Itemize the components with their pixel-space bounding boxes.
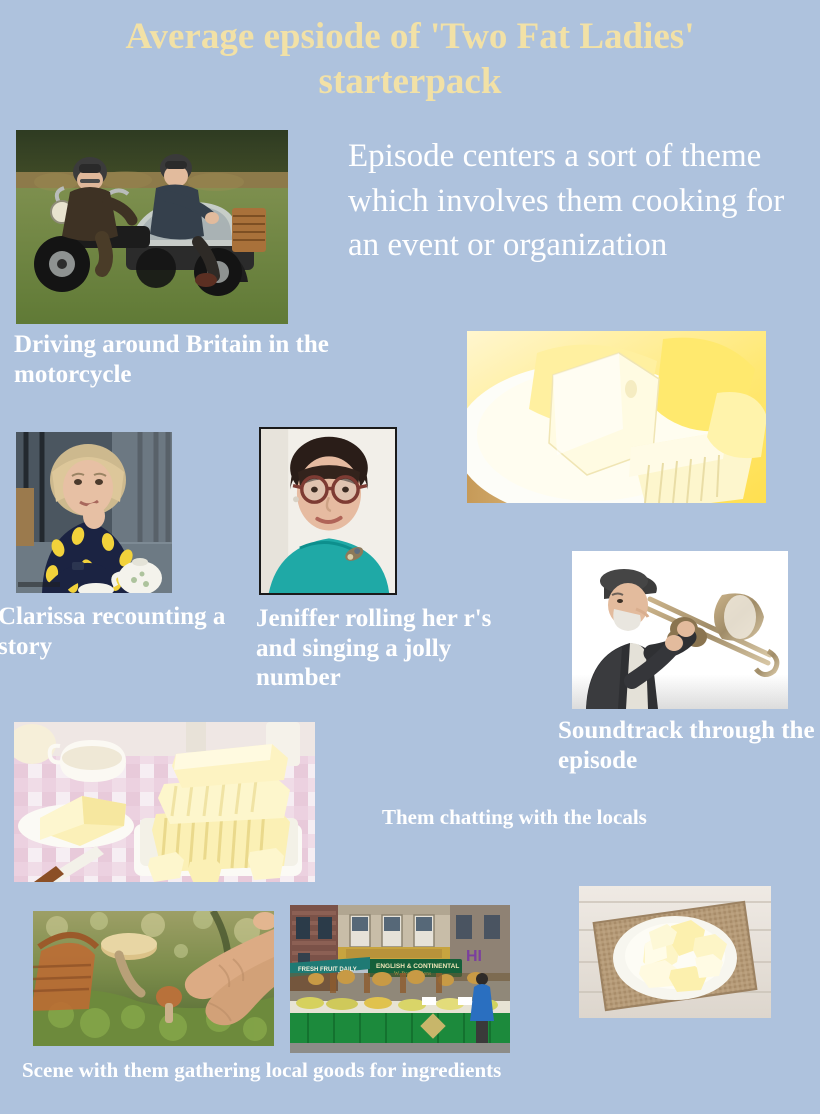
jeniffer-photo bbox=[259, 427, 397, 595]
motorcycle-caption-text: Driving around Britain in the motorcycle bbox=[14, 331, 329, 388]
butter-plate-photo bbox=[579, 886, 771, 1018]
clarissa-caption-text: Clarissa recounting a story bbox=[0, 603, 225, 660]
butter-bowl-photo-graphic bbox=[467, 331, 766, 503]
motorcycle-caption: Driving around Britain in the motorcycle bbox=[14, 330, 344, 389]
svg-text:ENGLISH & CONTINENTAL: ENGLISH & CONTINENTAL bbox=[376, 963, 459, 970]
foraging-photo bbox=[33, 911, 274, 1046]
trombone-photo-graphic bbox=[572, 551, 788, 709]
gathering-caption: Scene with them gathering local goods fo… bbox=[22, 1058, 682, 1083]
motorcycle-photo-graphic bbox=[16, 130, 288, 324]
page-title-line-2: starterpack bbox=[0, 59, 820, 104]
locals-caption: Them chatting with the locals bbox=[382, 805, 722, 830]
butter-blocks-photo-graphic bbox=[14, 722, 315, 882]
butter-bowl-photo bbox=[467, 331, 766, 503]
butter-blocks-photo bbox=[14, 722, 315, 882]
page-title: Average epsiode of 'Two Fat Ladies' star… bbox=[0, 14, 820, 104]
gathering-caption-text: Scene with them gathering local goods fo… bbox=[22, 1058, 501, 1082]
foraging-photo-graphic bbox=[33, 911, 274, 1046]
theme-caption-text: Episode centers a sort of theme which in… bbox=[348, 138, 784, 263]
trombone-photo bbox=[572, 551, 788, 709]
market-photo: HI ENGLISH & CONTINENTAL W. Boyd & Sons … bbox=[290, 905, 510, 1053]
clarissa-photo-graphic bbox=[16, 432, 172, 593]
jeniffer-photo-graphic bbox=[261, 429, 395, 593]
jeniffer-caption-text: Jeniffer rolling her r's and singing a j… bbox=[256, 605, 491, 691]
butter-plate-photo-graphic bbox=[579, 886, 771, 1018]
page-title-line-1: Average epsiode of 'Two Fat Ladies' bbox=[0, 14, 820, 59]
trombone-caption-text: Soundtrack through the episode bbox=[558, 717, 815, 774]
market-photo-graphic: HI ENGLISH & CONTINENTAL W. Boyd & Sons … bbox=[290, 905, 510, 1053]
starterpack-meme: Average epsiode of 'Two Fat Ladies' star… bbox=[0, 0, 820, 1114]
jeniffer-caption: Jeniffer rolling her r's and singing a j… bbox=[256, 604, 536, 693]
theme-caption: Episode centers a sort of theme which in… bbox=[348, 134, 810, 268]
clarissa-caption: Clarissa recounting a story bbox=[0, 602, 248, 661]
locals-caption-text: Them chatting with the locals bbox=[382, 805, 647, 829]
motorcycle-photo bbox=[16, 130, 288, 324]
trombone-caption: Soundtrack through the episode bbox=[558, 716, 818, 775]
svg-text:HI: HI bbox=[466, 948, 482, 965]
clarissa-photo bbox=[16, 432, 172, 593]
